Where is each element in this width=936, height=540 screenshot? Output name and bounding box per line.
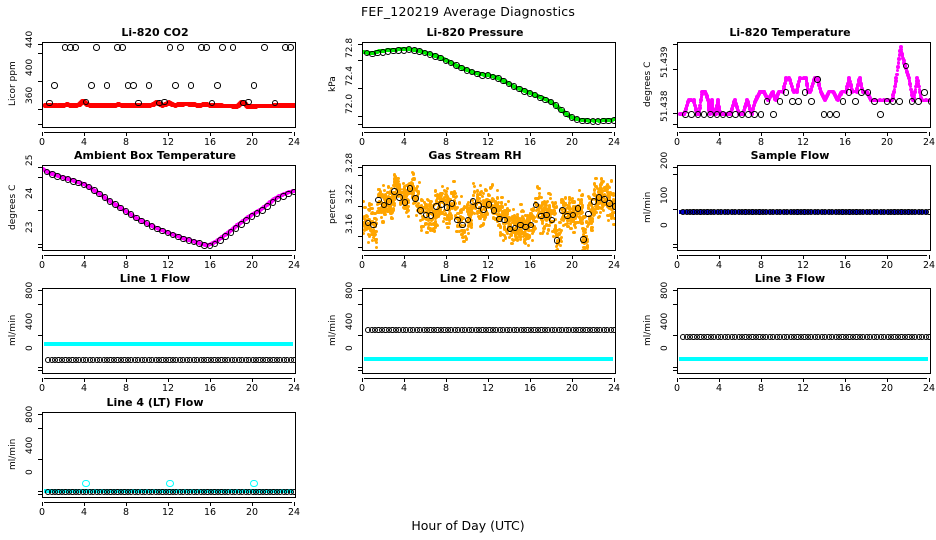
- average-marker: [402, 199, 409, 206]
- y-tick-mark: [673, 44, 677, 45]
- data-point: [590, 220, 593, 223]
- x-tick-mark: [845, 378, 846, 382]
- average-marker: [764, 98, 771, 105]
- average-marker: [291, 357, 296, 363]
- x-tick-mark: [887, 378, 888, 382]
- data-point: [503, 226, 506, 229]
- x-tick-mark: [404, 378, 405, 382]
- y-tick-mark: [358, 370, 362, 371]
- data-point: [370, 207, 373, 210]
- average-marker: [291, 489, 296, 495]
- x-tick-label: 20: [242, 260, 262, 271]
- average-marker: [172, 82, 179, 89]
- x-tick-mark: [488, 132, 489, 136]
- y-tick-mark: [673, 69, 677, 70]
- x-tick-mark: [42, 502, 43, 506]
- y-tick-mark: [673, 304, 677, 305]
- data-point: [586, 245, 589, 248]
- data-point: [523, 238, 526, 241]
- y-tick-mark: [358, 167, 362, 168]
- average-marker: [501, 217, 508, 224]
- data-point: [448, 222, 451, 225]
- y-tick-mark: [358, 290, 362, 291]
- x-tick-mark: [803, 378, 804, 382]
- y-axis-label: degrees C: [8, 165, 18, 249]
- data-point: [564, 202, 567, 205]
- y-tick-mark: [673, 367, 677, 368]
- x-tick-label: 0: [352, 383, 372, 394]
- x-tick-label: 20: [562, 383, 582, 394]
- x-tick-mark: [929, 132, 930, 136]
- x-tick-mark: [719, 255, 720, 259]
- data-point: [544, 218, 547, 221]
- y-tick-mark: [358, 124, 362, 125]
- x-tick-label: 20: [242, 383, 262, 394]
- data-point: [455, 195, 458, 198]
- y-tick-label: 3.28: [345, 153, 355, 197]
- y-tick-label: 25: [25, 155, 35, 199]
- data-point: [406, 208, 409, 211]
- average-marker: [926, 209, 931, 215]
- x-tick-label: 12: [478, 260, 498, 271]
- plot-area: [677, 42, 931, 128]
- data-point: [363, 228, 366, 231]
- data-point: [410, 191, 413, 194]
- data-point: [462, 207, 465, 210]
- x-tick-mark: [446, 378, 447, 382]
- x-tick-mark: [294, 378, 295, 382]
- average-marker: [261, 44, 268, 51]
- x-tick-label: 20: [242, 137, 262, 148]
- y-tick-mark: [38, 167, 42, 168]
- data-point: [578, 189, 581, 192]
- x-tick-mark: [614, 132, 615, 136]
- x-tick-label: 4: [394, 260, 414, 271]
- x-tick-mark: [126, 255, 127, 259]
- data-point: [564, 196, 567, 199]
- x-tick-label: 24: [919, 137, 936, 148]
- chart-title: Line 2 Flow: [330, 272, 620, 285]
- y-tick-mark: [38, 494, 42, 495]
- y-tick-mark: [38, 81, 42, 82]
- x-tick-mark: [210, 502, 211, 506]
- x-tick-label: 4: [709, 137, 729, 148]
- y-axis-label: ml/min: [8, 412, 18, 496]
- data-point: [496, 196, 499, 199]
- average-marker: [119, 44, 126, 51]
- x-tick-mark: [719, 132, 720, 136]
- data-point: [482, 223, 485, 226]
- x-tick-label: 4: [394, 137, 414, 148]
- average-marker: [219, 44, 226, 51]
- chart-title: Li-820 Temperature: [645, 26, 935, 39]
- y-tick-mark: [358, 88, 362, 89]
- data-point: [456, 206, 459, 209]
- data-point: [470, 211, 473, 214]
- y-tick-mark: [673, 113, 677, 114]
- chart-panel: Li-820 Temperaturedegrees C51.43851.4390…: [645, 26, 935, 144]
- data-point: [527, 234, 530, 237]
- y-tick-mark: [38, 210, 42, 211]
- x-tick-mark: [929, 255, 930, 259]
- average-marker: [896, 98, 903, 105]
- data-point: [460, 195, 463, 198]
- data-point: [593, 188, 596, 191]
- plot-area: [42, 165, 296, 251]
- y-tick-mark: [38, 247, 42, 248]
- data-point: [519, 203, 522, 206]
- average-marker: [802, 89, 809, 96]
- average-marker: [51, 82, 58, 89]
- x-tick-mark: [126, 502, 127, 506]
- x-tick-mark: [929, 378, 930, 382]
- y-tick-mark: [673, 290, 677, 291]
- x-tick-mark: [126, 378, 127, 382]
- data-point: [386, 210, 389, 213]
- chart-title: Line 4 (LT) Flow: [10, 396, 300, 409]
- x-tick-label: 0: [352, 260, 372, 271]
- data-point: [897, 57, 901, 61]
- y-tick-label: 72.8: [345, 38, 355, 82]
- y-tick-mark: [673, 167, 677, 168]
- data-point: [375, 241, 378, 244]
- average-marker: [251, 82, 258, 89]
- average-marker: [926, 334, 931, 340]
- x-tick-mark: [614, 255, 615, 259]
- data-point: [479, 225, 482, 228]
- x-tick-label: 16: [200, 383, 220, 394]
- x-tick-mark: [404, 255, 405, 259]
- y-tick-mark: [38, 244, 42, 245]
- chart-title: Line 3 Flow: [645, 272, 935, 285]
- plot-area: [677, 288, 931, 374]
- y-tick-mark: [673, 209, 677, 210]
- data-point: [481, 195, 484, 198]
- x-tick-label: 12: [158, 260, 178, 271]
- average-marker: [230, 44, 237, 51]
- data-point: [486, 213, 489, 216]
- x-tick-label: 8: [751, 383, 771, 394]
- y-tick-mark: [38, 109, 42, 110]
- data-point: [445, 190, 448, 193]
- data-point: [450, 214, 453, 217]
- y-tick-mark: [673, 244, 677, 245]
- x-tick-mark: [362, 255, 363, 259]
- x-tick-mark: [572, 378, 573, 382]
- data-point: [382, 184, 385, 187]
- average-marker: [167, 44, 174, 51]
- x-tick-label: 16: [200, 260, 220, 271]
- data-point: [362, 200, 365, 203]
- plot-area: [362, 288, 616, 374]
- x-tick-label: 4: [709, 260, 729, 271]
- data-point: [572, 231, 575, 234]
- y-tick-mark: [38, 53, 42, 54]
- data-point: [441, 185, 444, 188]
- y-axis-label: ml/min: [328, 288, 338, 372]
- data-point: [569, 227, 572, 230]
- data-point: [586, 249, 589, 251]
- x-tick-mark: [294, 255, 295, 259]
- average-marker: [928, 98, 931, 105]
- y-tick-mark: [38, 370, 42, 371]
- data-point: [527, 244, 530, 247]
- data-point: [546, 232, 549, 235]
- x-tick-mark: [404, 132, 405, 136]
- y-tick-label: 800: [345, 282, 355, 326]
- y-tick-mark: [673, 247, 677, 248]
- data-point: [442, 220, 445, 223]
- average-marker: [93, 44, 100, 51]
- average-marker: [88, 82, 95, 89]
- data-point: [610, 192, 613, 195]
- x-tick-mark: [677, 132, 678, 136]
- x-tick-mark: [530, 132, 531, 136]
- average-marker: [459, 222, 466, 229]
- y-tick-mark: [358, 116, 362, 117]
- y-tick-label: 51.438: [660, 91, 670, 135]
- plot-area: [362, 42, 616, 128]
- y-tick-label: 800: [25, 282, 35, 326]
- y-tick-mark: [38, 335, 42, 336]
- data-point: [509, 233, 512, 236]
- x-tick-label: 24: [604, 260, 624, 271]
- average-marker: [915, 98, 922, 105]
- x-tick-label: 0: [32, 383, 52, 394]
- chart-title: Sample Flow: [645, 149, 935, 162]
- average-marker: [104, 82, 111, 89]
- x-tick-mark: [126, 132, 127, 136]
- y-axis-label: kPa: [328, 42, 338, 126]
- plot-area: [42, 412, 296, 498]
- plot-area: [42, 42, 296, 128]
- data-point: [587, 195, 590, 198]
- data-point: [558, 221, 561, 224]
- average-marker: [770, 111, 777, 118]
- y-tick-label: 200: [660, 152, 670, 196]
- data-point: [364, 206, 367, 209]
- data-point: [377, 188, 380, 191]
- x-tick-label: 20: [877, 383, 897, 394]
- x-tick-mark: [887, 255, 888, 259]
- data-point: [434, 189, 437, 192]
- data-point: [531, 232, 534, 235]
- data-point: [507, 200, 510, 203]
- spike-marker: [250, 480, 257, 487]
- y-axis-label: ml/min: [643, 288, 653, 372]
- data-point: [437, 215, 440, 218]
- x-tick-label: 8: [116, 383, 136, 394]
- data-point: [506, 207, 509, 210]
- data-point: [554, 224, 557, 227]
- x-tick-label: 20: [562, 260, 582, 271]
- data-point: [367, 241, 370, 244]
- data-point: [496, 189, 499, 192]
- x-tick-label: 8: [436, 137, 456, 148]
- x-tick-label: 0: [352, 137, 372, 148]
- data-point: [580, 222, 583, 225]
- average-marker: [688, 111, 695, 118]
- data-point: [370, 203, 373, 206]
- average-marker: [877, 111, 884, 118]
- x-tick-label: 24: [284, 383, 304, 394]
- data-point: [559, 231, 562, 234]
- data-point: [389, 205, 392, 208]
- average-marker: [732, 111, 739, 118]
- data-point: [434, 210, 437, 213]
- data-point: [613, 217, 616, 220]
- average-marker: [777, 98, 784, 105]
- x-tick-label: 0: [667, 137, 687, 148]
- x-tick-label: 16: [835, 260, 855, 271]
- y-tick-mark: [38, 124, 42, 125]
- data-point: [502, 239, 505, 242]
- x-tick-label: 0: [32, 260, 52, 271]
- data-point: [537, 187, 540, 190]
- data-point: [380, 216, 383, 219]
- average-marker: [865, 89, 872, 96]
- x-tick-mark: [252, 132, 253, 136]
- data-point: [594, 177, 597, 180]
- x-tick-label: 24: [604, 383, 624, 394]
- x-tick-label: 12: [793, 137, 813, 148]
- data-point: [426, 198, 429, 201]
- page-title: FEF_120219 Average Diagnostics: [0, 4, 936, 19]
- data-point: [527, 229, 530, 232]
- data-point: [459, 211, 462, 214]
- x-tick-mark: [210, 132, 211, 136]
- x-tick-mark: [530, 255, 531, 259]
- average-marker: [177, 44, 184, 51]
- x-tick-mark: [294, 502, 295, 506]
- data-point: [375, 246, 378, 249]
- data-point: [554, 201, 557, 204]
- x-tick-label: 20: [242, 507, 262, 518]
- chart-panel: Line 4 (LT) Flowml/min040080004812162024: [10, 396, 300, 514]
- data-point: [562, 224, 565, 227]
- data-point: [411, 178, 414, 181]
- data-point: [383, 212, 386, 215]
- data-point: [484, 216, 487, 219]
- average-marker: [795, 98, 802, 105]
- y-tick-mark: [358, 236, 362, 237]
- plot-area: [42, 288, 296, 374]
- y-tick-label: 440: [25, 31, 35, 75]
- data-point: [477, 211, 480, 214]
- chart-title: Line 1 Flow: [10, 272, 300, 285]
- data-point: [581, 193, 584, 196]
- x-tick-label: 4: [74, 137, 94, 148]
- average-marker: [921, 89, 928, 96]
- x-tick-label: 4: [74, 383, 94, 394]
- x-tick-label: 4: [394, 383, 414, 394]
- y-tick-mark: [38, 44, 42, 45]
- data-point: [545, 223, 548, 226]
- chart-panel: Sample Flowml/min010020004812162024: [645, 149, 935, 267]
- x-tick-label: 4: [74, 260, 94, 271]
- raw-data-band: [679, 357, 928, 361]
- x-tick-mark: [845, 255, 846, 259]
- x-tick-label: 0: [667, 383, 687, 394]
- spike-marker: [82, 480, 89, 487]
- x-tick-label: 12: [158, 507, 178, 518]
- data-point: [553, 228, 556, 231]
- data-point: [393, 202, 396, 205]
- x-tick-label: 8: [116, 137, 136, 148]
- y-tick-label: 800: [660, 282, 670, 326]
- data-point: [512, 208, 515, 211]
- x-tick-label: 16: [520, 383, 540, 394]
- chart-title: Ambient Box Temperature: [10, 149, 300, 162]
- x-tick-mark: [530, 378, 531, 382]
- data-point: [520, 210, 523, 213]
- chart-panel: Line 1 Flowml/min040080004812162024: [10, 272, 300, 390]
- data-point: [542, 230, 545, 233]
- average-marker: [751, 111, 758, 118]
- x-tick-mark: [42, 378, 43, 382]
- data-point: [612, 223, 615, 226]
- x-tick-label: 0: [32, 137, 52, 148]
- data-point: [391, 209, 394, 212]
- x-tick-label: 0: [32, 507, 52, 518]
- data-point: [549, 193, 552, 196]
- average-marker: [72, 44, 79, 51]
- y-tick-mark: [358, 304, 362, 305]
- data-point: [363, 215, 366, 218]
- x-tick-mark: [42, 132, 43, 136]
- data-point: [466, 206, 469, 209]
- average-marker: [758, 111, 765, 118]
- y-tick-mark: [358, 367, 362, 368]
- data-point: [373, 212, 376, 215]
- data-point: [420, 229, 423, 232]
- y-axis-label: percent: [328, 165, 338, 249]
- x-tick-mark: [168, 132, 169, 136]
- x-tick-label: 16: [200, 137, 220, 148]
- chart-panel: Line 3 Flowml/min040080004812162024: [645, 272, 935, 390]
- x-tick-mark: [210, 378, 211, 382]
- raw-data-band: [364, 357, 613, 361]
- data-point: [508, 236, 511, 239]
- x-tick-label: 24: [919, 383, 936, 394]
- data-point: [599, 211, 602, 214]
- x-tick-mark: [803, 132, 804, 136]
- x-tick-mark: [488, 378, 489, 382]
- x-tick-label: 8: [436, 383, 456, 394]
- chart-panel: Line 2 Flowml/min040080004812162024: [330, 272, 620, 390]
- y-tick-mark: [358, 206, 362, 207]
- x-tick-mark: [446, 132, 447, 136]
- data-point: [362, 232, 365, 235]
- average-marker: [370, 222, 377, 229]
- x-tick-label: 24: [284, 507, 304, 518]
- x-tick-label: 24: [604, 137, 624, 148]
- data-point: [547, 228, 550, 231]
- x-tick-mark: [677, 255, 678, 259]
- x-tick-mark: [677, 378, 678, 382]
- data-point: [531, 239, 534, 242]
- average-marker: [840, 98, 847, 105]
- average-marker: [833, 111, 840, 118]
- x-tick-label: 16: [835, 383, 855, 394]
- x-tick-label: 20: [562, 137, 582, 148]
- data-point: [499, 233, 502, 236]
- chart-panel: Li-820 CO2Licor ppm36040044004812162024: [10, 26, 300, 144]
- x-axis-title: Hour of Day (UTC): [0, 518, 936, 533]
- average-marker: [580, 236, 587, 243]
- data-point: [593, 182, 596, 185]
- y-tick-mark: [358, 247, 362, 248]
